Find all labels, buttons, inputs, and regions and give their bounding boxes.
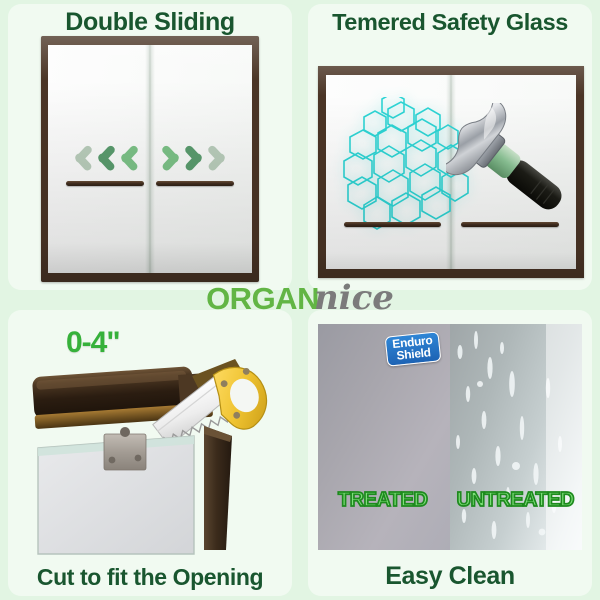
untreated-glass-side — [450, 324, 582, 550]
enduroshield-badge: Enduro Shield — [385, 331, 442, 367]
panel-title-cut-to-fit: Cut to fit the Opening — [8, 564, 292, 591]
door-handle-left — [66, 181, 144, 186]
measurement-label: 0-4" — [66, 326, 120, 360]
panel-safety-glass: Temered Safety Glass — [308, 4, 592, 290]
safety-glass-pane — [326, 75, 576, 269]
chevron-left-icon — [118, 141, 140, 175]
door-handle-left — [344, 222, 442, 227]
brand-logo: ORGANnice — [0, 278, 600, 318]
badge-line-2: Shield — [393, 346, 434, 362]
safety-glass-door-frame — [318, 66, 584, 278]
panel-title-safety-glass: Temered Safety Glass — [308, 9, 592, 36]
door-center-seam — [145, 45, 155, 273]
label-untreated: UNTREATED — [457, 489, 574, 512]
panel-double-sliding: Double Sliding — [8, 4, 292, 290]
sliding-door-frame — [41, 36, 259, 282]
panel-easy-clean: Enduro Shield TREATED UNTREATED Easy Cle… — [308, 310, 592, 596]
sliding-door-glass — [48, 45, 252, 273]
slide-right-arrows — [160, 141, 228, 175]
panel-title-easy-clean: Easy Clean — [308, 562, 592, 591]
panel-cut-to-fit: 0-4" Cut to fit the Opening — [8, 310, 292, 596]
hammer-icon — [446, 103, 578, 235]
panel-title-double-sliding: Double Sliding — [8, 8, 292, 37]
treated-vs-untreated-photo: Enduro Shield TREATED UNTREATED — [318, 324, 582, 550]
label-treated: TREATED — [338, 489, 427, 512]
brand-logo-primary: ORGAN — [206, 281, 319, 316]
chevron-right-icon — [160, 141, 182, 175]
water-droplets-icon — [450, 324, 582, 550]
slide-left-arrows — [72, 141, 140, 175]
chevron-left-icon — [72, 141, 94, 175]
cut-to-fit-illustration — [8, 310, 292, 596]
chevron-right-icon — [206, 141, 228, 175]
door-handle-right — [461, 222, 559, 227]
infographic-canvas: Double Sliding Temered Safety — [0, 0, 600, 600]
door-handle-right — [156, 181, 234, 186]
brand-logo-script: nice — [314, 278, 394, 318]
chevron-right-icon — [183, 141, 205, 175]
chevron-left-icon — [95, 141, 117, 175]
